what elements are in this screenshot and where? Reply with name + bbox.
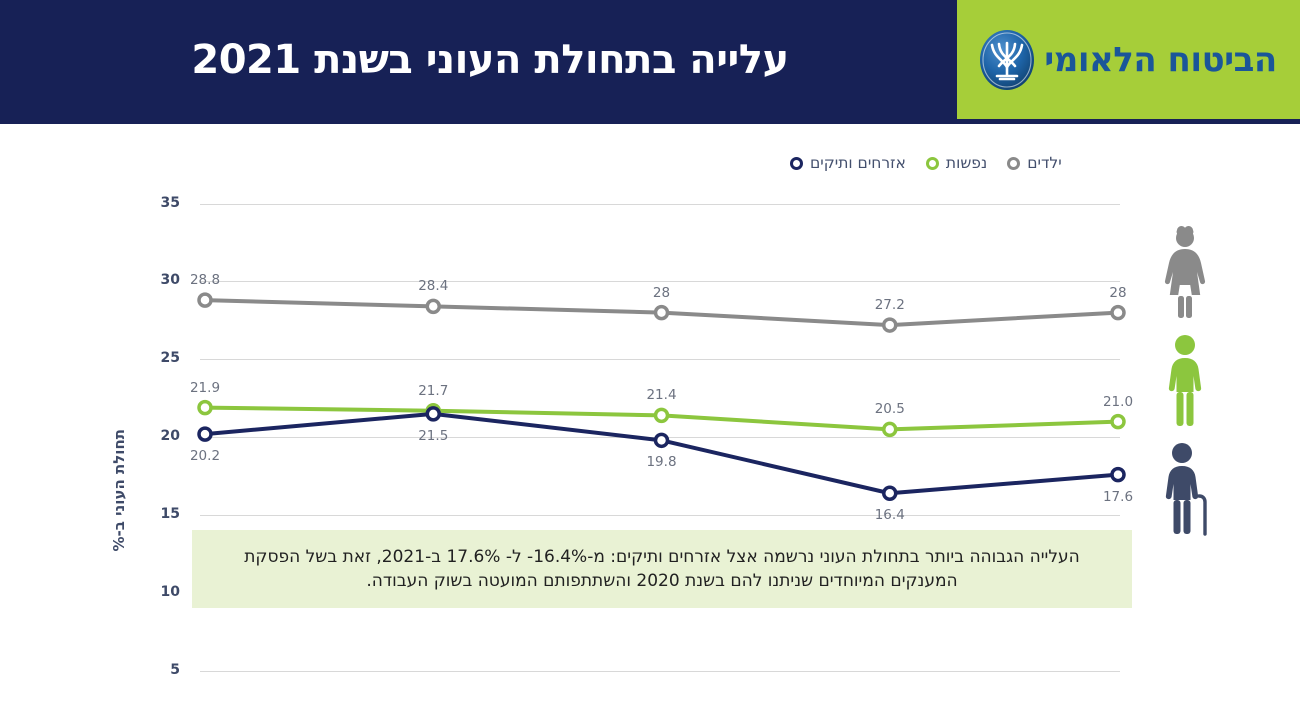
chart-container: אזרחים ותיקים נפשות ילדים תחולת העוני ב-… xyxy=(0,124,1300,703)
series-data-point[interactable] xyxy=(884,487,896,499)
y-axis-tick-label: 10 xyxy=(140,584,180,600)
data-point-label: 17.6 xyxy=(1103,489,1133,505)
series-data-point[interactable] xyxy=(656,434,668,446)
data-point-label: 20.2 xyxy=(190,448,220,464)
gridline xyxy=(200,671,1120,672)
organization-logo: הביטוח הלאומי xyxy=(965,22,1290,98)
series-data-point[interactable] xyxy=(656,409,668,421)
series-data-point[interactable] xyxy=(1112,416,1124,428)
highlight-callout: העלייה הגבוהה ביותר בתחולת העוני נרשמה א… xyxy=(192,530,1132,608)
series-data-point[interactable] xyxy=(884,319,896,331)
legend-label: אזרחים ותיקים xyxy=(810,154,906,172)
series-data-point[interactable] xyxy=(1112,307,1124,319)
y-axis-tick-label: 20 xyxy=(140,428,180,444)
chart-plot-lines xyxy=(0,124,1300,703)
legend-item-vatikim[interactable]: אזרחים ותיקים xyxy=(790,154,906,172)
y-axis-tick-label: 30 xyxy=(140,272,180,288)
data-point-label: 21.5 xyxy=(418,428,448,444)
callout-text: העלייה הגבוהה ביותר בתחולת העוני נרשמה א… xyxy=(210,545,1114,593)
series-line xyxy=(205,300,1118,325)
series-data-point[interactable] xyxy=(199,402,211,414)
series-line xyxy=(205,408,1118,430)
data-point-label: 21.7 xyxy=(418,383,448,399)
series-data-point[interactable] xyxy=(427,405,439,417)
gridline xyxy=(200,204,1120,205)
pictogram-column xyxy=(1142,224,1228,524)
legend-marker-icon xyxy=(790,157,803,170)
series-data-point[interactable] xyxy=(199,294,211,306)
series-data-point[interactable] xyxy=(884,423,896,435)
data-point-label: 28 xyxy=(653,285,670,301)
series-data-point[interactable] xyxy=(427,408,439,420)
data-point-label: 28.4 xyxy=(418,278,448,294)
child-girl-figure-icon xyxy=(1142,224,1228,320)
series-data-point[interactable] xyxy=(1112,469,1124,481)
y-axis-title: תחולת העוני ב-% xyxy=(110,429,128,552)
gridline xyxy=(200,437,1120,438)
data-point-label: 28.8 xyxy=(190,272,220,288)
adult-person-figure-icon xyxy=(1142,332,1228,428)
y-axis-tick-label: 15 xyxy=(140,506,180,522)
data-point-label: 20.5 xyxy=(875,401,905,417)
gridline xyxy=(200,281,1120,282)
legend-label: נפשות xyxy=(946,154,987,172)
data-point-label: 19.8 xyxy=(646,454,676,470)
data-point-label: 21.4 xyxy=(646,387,676,403)
y-axis-tick-label: 25 xyxy=(140,350,180,366)
legend-item-nefashot[interactable]: נפשות xyxy=(926,154,987,172)
legend-marker-icon xyxy=(926,157,939,170)
legend-item-yeladim[interactable]: ילדים xyxy=(1007,154,1062,172)
data-point-label: 28 xyxy=(1109,285,1126,301)
slide-header: עלייה בתחולת העוני בשנת 2021 הביטוח הלאו… xyxy=(0,0,1300,122)
elderly-person-with-cane-figure-icon xyxy=(1142,440,1228,536)
chart-legend: אזרחים ותיקים נפשות ילדים xyxy=(790,151,1140,175)
y-axis-tick-label: 5 xyxy=(140,662,180,678)
logo-text: הביטוח הלאומי xyxy=(1044,43,1277,77)
gridline xyxy=(200,515,1120,516)
page-title: עלייה בתחולת העוני בשנת 2021 xyxy=(40,0,940,119)
legend-marker-icon xyxy=(1007,157,1020,170)
data-point-label: 16.4 xyxy=(875,507,905,523)
series-data-point[interactable] xyxy=(199,428,211,440)
slide-root: עלייה בתחולת העוני בשנת 2021 הביטוח הלאו… xyxy=(0,0,1300,703)
data-point-label: 27.2 xyxy=(875,297,905,313)
gridline xyxy=(200,359,1120,360)
y-axis-tick-label: 35 xyxy=(140,195,180,211)
menorah-emblem-icon xyxy=(978,29,1036,91)
legend-label: ילדים xyxy=(1027,154,1062,172)
data-point-label: 21.9 xyxy=(190,380,220,396)
series-data-point[interactable] xyxy=(427,300,439,312)
series-data-point[interactable] xyxy=(656,307,668,319)
data-point-label: 21.0 xyxy=(1103,394,1133,410)
